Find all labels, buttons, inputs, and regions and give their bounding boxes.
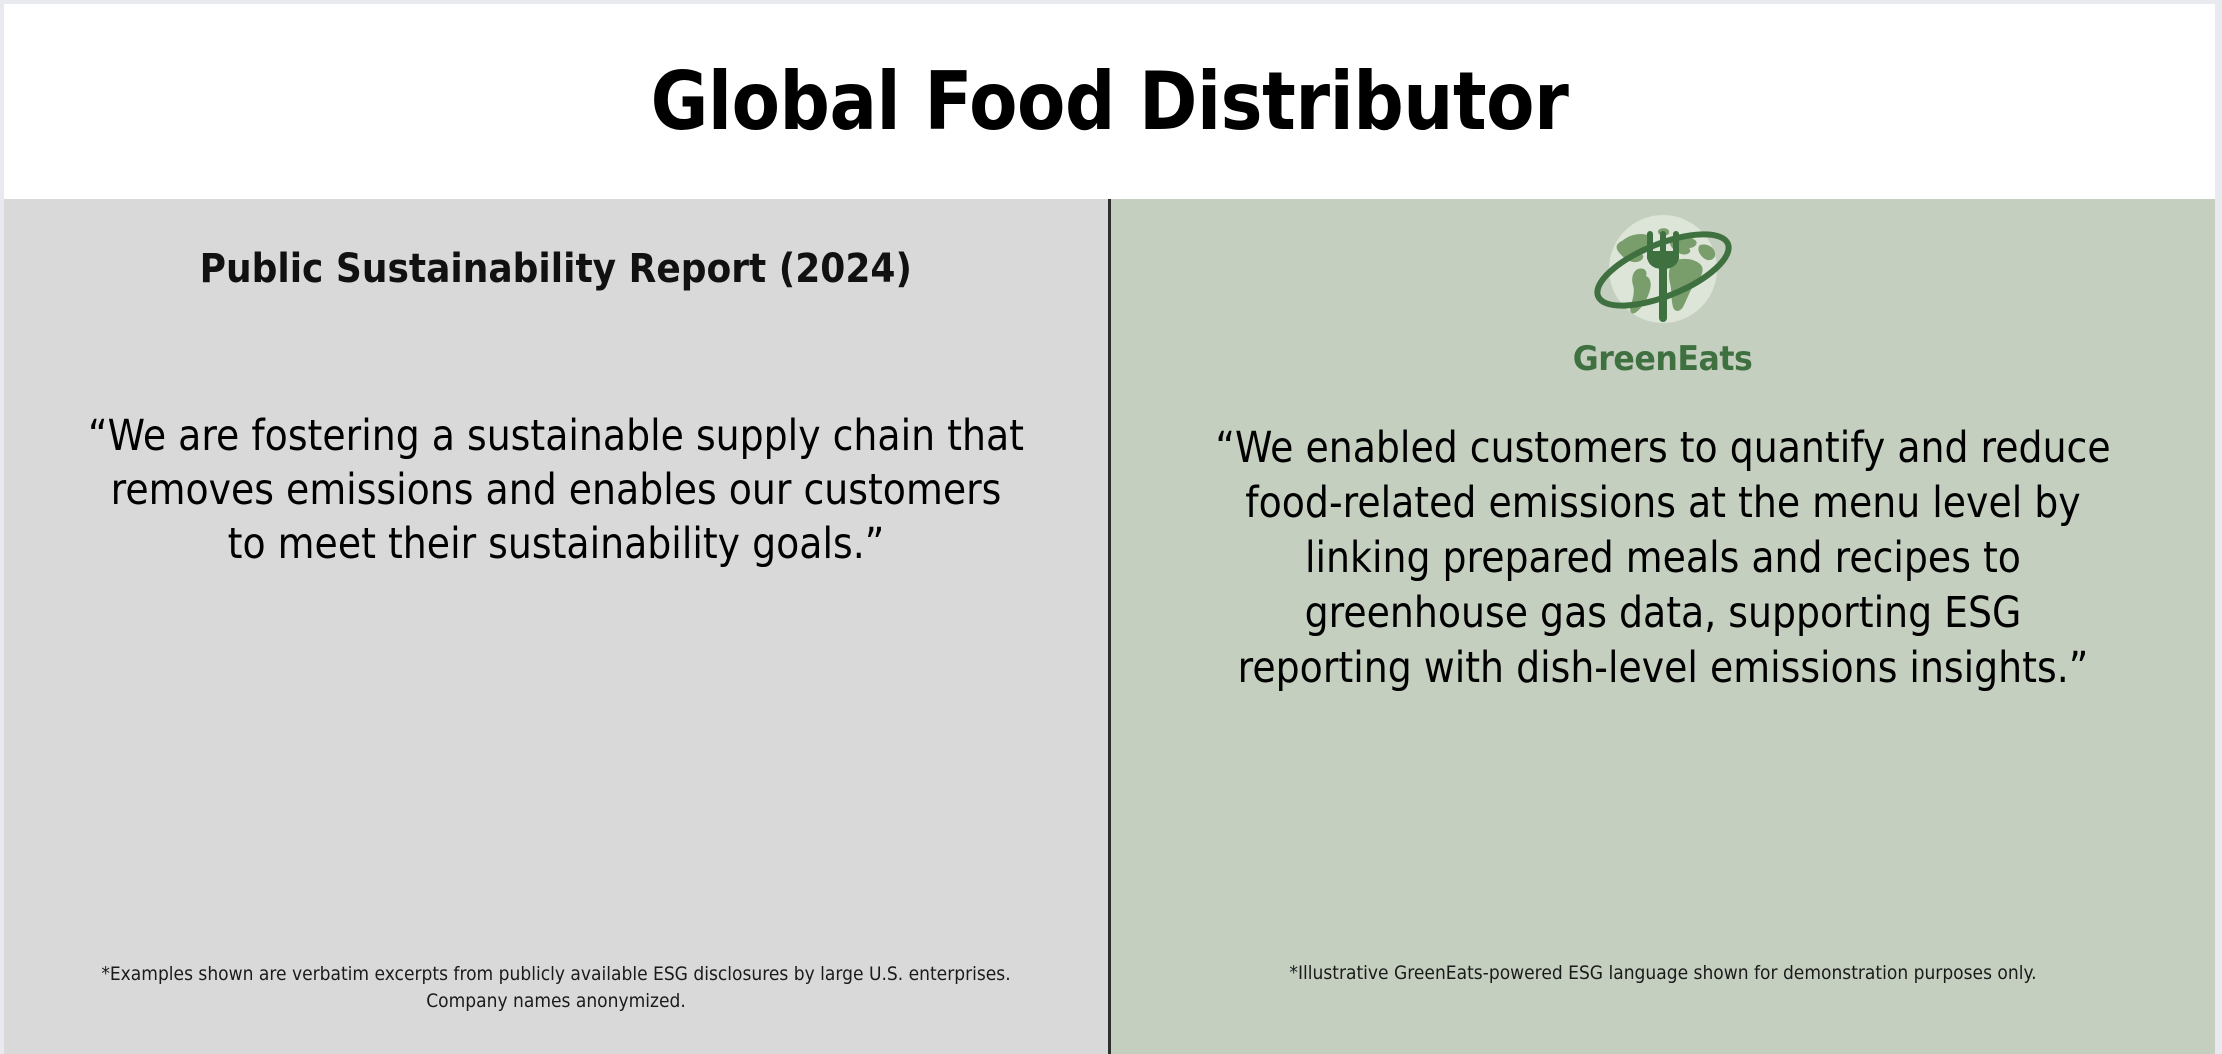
public-report-quote: “We are fostering a sustainable supply c… — [86, 409, 1026, 572]
greeneats-wordmark: GreenEats — [1573, 339, 1753, 379]
panel-public-report: Public Sustainability Report (2024) “We … — [4, 199, 1108, 1054]
greeneats-quote: “We enabled customers to quantify and re… — [1214, 421, 2112, 696]
globe-fork-orbit-icon — [1588, 207, 1738, 341]
report-heading: Public Sustainability Report (2024) — [200, 247, 912, 291]
slide-root: Global Food Distributor Public Sustainab… — [0, 0, 2222, 1054]
comparison-panels: Public Sustainability Report (2024) “We … — [4, 199, 2215, 1054]
right-panel-footnote: *Illustrative GreenEats-powered ESG lang… — [1166, 960, 2160, 988]
left-panel-footnote: *Examples shown are verbatim excerpts fr… — [59, 961, 1053, 1016]
panel-greeneats: GreenEats “We enabled customers to quant… — [1111, 199, 2215, 1054]
slide-header: Global Food Distributor — [4, 4, 2215, 199]
page-title: Global Food Distributor — [651, 62, 1569, 142]
greeneats-logo: GreenEats — [1566, 207, 1759, 379]
